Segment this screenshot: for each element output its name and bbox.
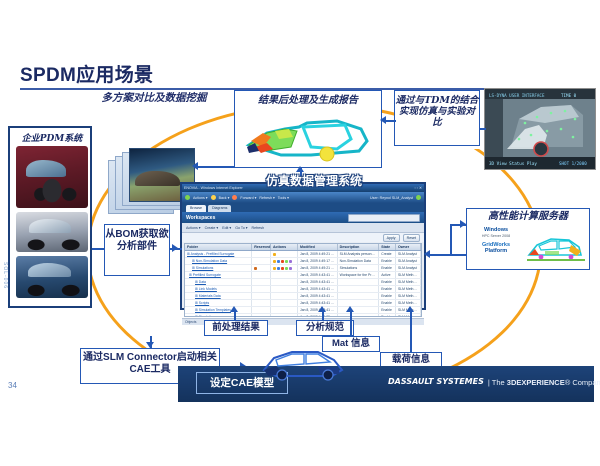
cell-description: Workspace for the Prefilled Surr...	[337, 272, 379, 279]
enterprise-pdm-panel: 企业PDM系统	[8, 126, 92, 308]
table-row[interactable]: ⊞ SimulationsJan 8, 2009 4:49:21 PMSimul…	[185, 265, 421, 272]
cell-actions[interactable]	[270, 286, 297, 293]
crash-test-video-thumb: LS-DYNA USER INTERFACE TIME 0 3D View St…	[484, 88, 596, 170]
tdm-compare-box: 通过与TDM的结合实现仿真与实验对比	[394, 90, 480, 146]
cell-state: Enable	[379, 307, 396, 314]
toolbar-item-3[interactable]: Refresh ▾	[259, 196, 274, 200]
ds-brand-line2: SYSTEMES	[436, 377, 483, 386]
arrow-hpc-to-sdm	[424, 250, 430, 258]
platform-label: Platform	[485, 248, 507, 254]
pdm-panel-title: 企业PDM系统	[10, 131, 94, 144]
browser-user-info: User: Reynol SLM_Analyst	[370, 196, 413, 200]
table-row[interactable]: ⊞ ScriptsJan 8, 2009 4:43:41 PMEnableSLM…	[185, 300, 421, 307]
toolbar-item-4[interactable]: Tools ▾	[278, 196, 289, 200]
hpc-vendor-logos: Windows HPC Server 2008 GridWorks Platfo…	[471, 227, 521, 267]
label-pre-result: 前处理结果	[204, 320, 268, 336]
forward-icon[interactable]	[232, 195, 237, 200]
cell-folder[interactable]: ⊞ Scripts	[185, 300, 252, 307]
cell-state: Enable	[379, 265, 396, 272]
action-actions[interactable]: Actions ▾	[186, 226, 201, 230]
back-icon[interactable]	[211, 195, 216, 200]
cell-description	[337, 307, 379, 314]
cell-description	[337, 286, 379, 293]
tab-browse[interactable]: Browse	[186, 205, 206, 212]
ds-tagline: | The 3DEXPERIENCE® Company	[488, 378, 600, 387]
status-text: Objects	[185, 320, 197, 324]
arrow-sdm-to-hpc	[460, 220, 466, 228]
cell-description	[337, 314, 379, 318]
connector-mat-up	[350, 310, 352, 336]
cell-owner: SLM Methods	[395, 286, 420, 293]
cell-actions[interactable]	[270, 293, 297, 300]
action-goto[interactable]: Go To ▾	[235, 226, 247, 230]
tab-diagrams[interactable]: Diagrams	[208, 205, 231, 212]
cell-modified: Jan 8, 2009 4:43:41 PM	[298, 293, 338, 300]
blue-car-mesh-image	[258, 344, 348, 382]
ds-tagline-pre: | The	[488, 378, 507, 387]
cell-actions[interactable]	[270, 314, 297, 318]
cell-owner: SLM Methods	[395, 293, 420, 300]
cell-description: Non-Simulation Data	[337, 258, 379, 265]
platform-logo: Platform	[471, 248, 521, 254]
search-input[interactable]	[348, 214, 420, 222]
cell-owner: SLM Analyst	[395, 258, 420, 265]
cell-folder[interactable]: ⊞ Non-Simulation Data	[185, 258, 252, 265]
toolbar-item-0[interactable]: Actions ▾	[193, 196, 208, 200]
cell-state: Enable	[379, 314, 396, 318]
workspaces-table[interactable]: Folder Reserved Actions Modified Descrip…	[184, 243, 422, 317]
car-image-red	[16, 146, 88, 208]
car-image-silver	[16, 212, 88, 252]
cell-description: Simulations	[337, 265, 379, 272]
cell-reserved	[252, 286, 271, 293]
cell-actions[interactable]	[270, 307, 297, 314]
home-icon[interactable]	[185, 195, 190, 200]
cell-actions[interactable]	[270, 300, 297, 307]
ds-tagline-post: ® Company	[565, 378, 600, 387]
workspaces-header: Workspaces	[182, 212, 424, 223]
bom-extract-box: 从BOM获取欲分析部件	[104, 224, 170, 276]
cell-owner: SLM Methods	[395, 314, 420, 318]
cell-modified: Jan 8, 2009 4:43:41 PM	[298, 286, 338, 293]
svg-text:SHOT 1/2000: SHOT 1/2000	[559, 161, 587, 166]
cell-actions[interactable]	[270, 258, 297, 265]
reset-button[interactable]: Reset	[403, 234, 420, 242]
svg-text:TIME 0: TIME 0	[561, 93, 577, 98]
connector-video-to-tdm	[480, 128, 486, 130]
tdm-compare-label: 通过与TDM的结合实现仿真与实验对比	[396, 95, 479, 128]
cell-modified: Jan 8, 2009 4:49:21 PM	[298, 265, 338, 272]
cell-state: Enable	[379, 279, 396, 286]
cell-reserved	[252, 314, 271, 318]
cell-actions[interactable]	[270, 265, 297, 272]
cell-folder[interactable]: ⊞ Analysis - Prefilled Surrogate	[185, 251, 252, 258]
ds-tagline-bold: 3DEXPERIENCE	[507, 378, 565, 387]
fem-result-image	[241, 111, 377, 165]
cell-owner: SLM Methods	[395, 272, 420, 279]
slide-canvas: SPDM应用场景 企业PDM系统 多方案对比及数据挖掘 结果后处理及生成报告	[0, 48, 600, 402]
browser-toolbar[interactable]: Actions ▾ Back ▾ Forward ▾ Refresh ▾ Too…	[182, 192, 424, 203]
cell-reserved	[252, 251, 271, 258]
workspaces-action-bar[interactable]: Actions ▾ Create ▾ Edit ▾ Go To ▾ Refres…	[182, 223, 424, 233]
sdm-system-title: 仿真数据管理系统	[234, 172, 394, 189]
connector-hpc-return	[428, 254, 466, 256]
browser-tab-strip[interactable]: Browse Diagrams	[182, 203, 424, 212]
cell-actions[interactable]	[270, 272, 297, 279]
hpc-server-box: 高性能计算服务器 Windows HPC Server 2008 GridWor…	[466, 208, 590, 270]
action-edit[interactable]: Edit ▾	[222, 226, 231, 230]
cell-state: Create	[379, 251, 396, 258]
workspaces-title: Workspaces	[186, 215, 215, 221]
action-create[interactable]: Create ▾	[205, 226, 219, 230]
connector-load-up	[410, 310, 412, 352]
cell-folder[interactable]: ⊞ Data	[185, 279, 252, 286]
side-watermark: SOL-006	[2, 262, 8, 289]
cell-folder[interactable]: ⊞ Materials Data	[185, 293, 252, 300]
arrow-load-up	[406, 306, 414, 312]
table-row[interactable]: ⊞ DataJan 8, 2009 4:43:41 PMEnableSLM Me…	[185, 279, 421, 286]
ds-brand-line1: DASSAULT	[388, 377, 434, 386]
connector-hpc-riser	[450, 224, 452, 254]
cell-owner: SLM Methods	[395, 279, 420, 286]
cell-actions[interactable]	[270, 251, 297, 258]
cell-modified: Jan 8, 2009 4:43:41 PM	[298, 272, 338, 279]
cell-state: Enable	[379, 258, 396, 265]
table-row[interactable]: ⊞ SimulationsJan 8, 2009 4:44:35 PMEnabl…	[185, 314, 421, 318]
car-image-blue	[16, 256, 88, 298]
arrow-spec-up	[318, 306, 326, 312]
apply-button[interactable]: Apply	[383, 234, 400, 242]
cell-folder[interactable]: ⊞ Simulations	[185, 265, 252, 272]
cell-folder[interactable]: ⊞ Simulation Templates	[185, 307, 252, 314]
cell-state: Enable	[379, 286, 396, 293]
arrow-tdm-to-post	[380, 116, 386, 124]
bom-extract-label: 从BOM获取欲分析部件	[105, 229, 168, 252]
cell-description	[337, 279, 379, 286]
cell-owner: SLM Analyst	[395, 265, 420, 272]
cell-reserved	[252, 300, 271, 307]
cell-folder[interactable]: ⊞ Prefilled Surrogate	[185, 272, 252, 279]
window-controls[interactable]: ▫ ▫ ✕	[414, 186, 422, 190]
table-row[interactable]: ⊞ Simulation TemplatesJan 8, 2009 4:43:4…	[185, 307, 421, 314]
cell-actions[interactable]	[270, 279, 297, 286]
cell-modified: Jan 8, 2009 4:49:17 PM	[298, 258, 338, 265]
action-refresh[interactable]: Refresh	[252, 226, 265, 230]
connector-post-to-stack	[196, 166, 234, 168]
toolbar-item-2[interactable]: Forward ▾	[240, 196, 256, 200]
windows-logo-line2: HPC Server 2008	[482, 234, 510, 238]
cell-modified: Jan 8, 2009 4:44:35 PM	[298, 314, 338, 318]
cell-reserved	[252, 265, 271, 272]
hpc-server-label: 高性能计算服务器	[488, 211, 568, 222]
windows-hpc-logo: Windows HPC Server 2008	[471, 227, 521, 240]
cell-reserved	[252, 279, 271, 286]
table-row[interactable]: ⊞ Materials DataJan 8, 2009 4:43:41 PMEn…	[185, 293, 421, 300]
table-body: ⊞ Analysis - Prefilled SurrogateJan 8, 2…	[185, 251, 421, 318]
cell-folder[interactable]: ⊞ Simulations	[185, 314, 252, 318]
label-analysis-spec: 分析规范	[296, 320, 354, 336]
arrow-post-to-stack	[192, 162, 198, 170]
gridworks-label: GridWorks	[482, 242, 510, 248]
cell-reserved	[252, 293, 271, 300]
multi-scheme-label: 多方案对比及数据挖掘	[94, 92, 214, 105]
post-process-box: 结果后处理及生成报告	[234, 90, 382, 168]
slide-number: 34	[8, 381, 17, 390]
arrow-bom-to-sdm	[172, 244, 178, 252]
enovia-browser-window[interactable]: ENOVIA - Windows Internet Explorer ▫ ▫ ✕…	[180, 182, 426, 310]
cell-reserved	[252, 307, 271, 314]
dassault-systemes-logo: DASSAULT SYSTEMES | The 3DEXPERIENCE® Co…	[388, 370, 588, 394]
ds-brand-mark: DASSAULT SYSTEMES	[388, 378, 484, 386]
workspaces-button-row[interactable]: Apply Reset	[182, 233, 424, 242]
cell-modified: Jan 8, 2009 4:49:21 PM	[298, 251, 338, 258]
cell-owner: SLM Analyst	[395, 251, 420, 258]
cell-reserved	[252, 258, 271, 265]
table-row[interactable]: ⊞ Non-Simulation DataJan 8, 2009 4:49:17…	[185, 258, 421, 265]
svg-text:LS-DYNA USER INTERFACE: LS-DYNA USER INTERFACE	[489, 93, 545, 98]
table-row[interactable]: ⊞ Link ModelsJan 8, 2009 4:43:41 PMEnabl…	[185, 286, 421, 293]
table-row[interactable]: ⊞ Prefilled SurrogateJan 8, 2009 4:43:41…	[185, 272, 421, 279]
arrow-to-slm	[146, 342, 154, 348]
arrow-mat-up	[346, 306, 354, 312]
cell-reserved	[252, 272, 271, 279]
cell-state: Active	[379, 272, 396, 279]
cell-description	[337, 300, 379, 307]
post-process-label: 结果后处理及生成报告	[258, 95, 358, 106]
windows-logo-line1: Windows	[484, 227, 508, 233]
table-row[interactable]: ⊞ Analysis - Prefilled SurrogateJan 8, 2…	[185, 251, 421, 258]
cell-modified: Jan 8, 2009 4:43:41 PM	[298, 279, 338, 286]
hpc-car-mesh-image	[525, 229, 587, 265]
cell-state: Enable	[379, 300, 396, 307]
cell-state: Enable	[379, 293, 396, 300]
cell-description: SLM Analysts personal workspace	[337, 251, 379, 258]
cell-description	[337, 293, 379, 300]
user-avatar[interactable]	[416, 195, 421, 200]
toolbar-item-1[interactable]: Back ▾	[219, 196, 230, 200]
page-title: SPDM应用场景	[20, 60, 153, 87]
arrow-pre-result-up	[230, 306, 238, 312]
svg-text:3D View Status Play: 3D View Status Play	[489, 161, 537, 166]
cell-folder[interactable]: ⊞ Link Models	[185, 286, 252, 293]
